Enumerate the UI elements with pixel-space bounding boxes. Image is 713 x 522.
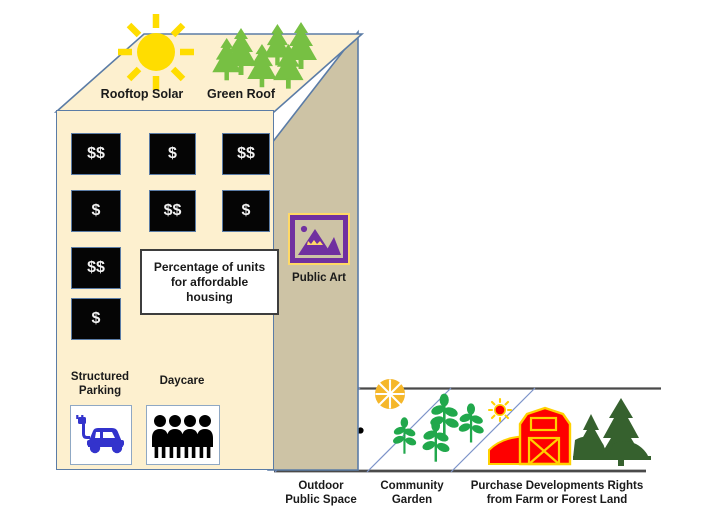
outdoor-public-space-line2: Public Space [272, 494, 370, 508]
structured-parking-label: Structured Parking [58, 371, 142, 398]
evergreen-trees-icon [214, 22, 318, 90]
purchase-development-rights-line1: Purchase Developments Rights [452, 480, 662, 494]
community-garden-line2: Garden [366, 494, 458, 508]
callout-line-2: for affordable [154, 275, 265, 290]
family-group-icon [152, 412, 214, 458]
window-dollar: $$ [71, 133, 121, 175]
purchase-development-rights-line2: from Farm or Forest Land [452, 494, 662, 508]
window-dollar: $ [71, 190, 121, 232]
daycare-label-line1: Daycare [146, 375, 218, 389]
window-dollar: $$ [222, 133, 270, 175]
structured-parking-label-line2: Parking [58, 385, 142, 399]
purchase-development-rights-label: Purchase Developments Rights from Farm o… [452, 480, 662, 507]
callout-line-3: housing [154, 290, 265, 305]
sun-icon [116, 12, 196, 92]
callout-line-1: Percentage of units [154, 260, 265, 275]
garden-plants-icon [392, 388, 502, 470]
window-dollar: $$ [71, 247, 121, 289]
ev-charging-car-icon [75, 414, 127, 456]
window-dollar: $ [149, 133, 196, 175]
community-garden-line1: Community [366, 480, 458, 494]
sustainable-development-diagram: Rooftop Solar Green Roof $$ $ $$ $ $$ $ … [0, 0, 713, 522]
outdoor-public-space-label: Outdoor Public Space [272, 480, 370, 507]
affordable-housing-callout: Percentage of units for affordable housi… [140, 249, 279, 315]
structured-parking-icon-box [70, 405, 132, 465]
daycare-label: Daycare [146, 375, 218, 389]
outdoor-public-space-line1: Outdoor [272, 480, 370, 494]
window-dollar: $ [222, 190, 270, 232]
structured-parking-label-line1: Structured [58, 371, 142, 385]
framed-mountain-picture-icon [288, 213, 350, 265]
window-dollar: $$ [149, 190, 196, 232]
window-dollar: $ [71, 298, 121, 340]
green-roof-label: Green Roof [186, 87, 296, 102]
daycare-icon-box [146, 405, 220, 465]
public-art-label: Public Art [283, 272, 355, 286]
community-garden-label: Community Garden [366, 480, 458, 507]
forest-trees-icon [573, 396, 651, 470]
